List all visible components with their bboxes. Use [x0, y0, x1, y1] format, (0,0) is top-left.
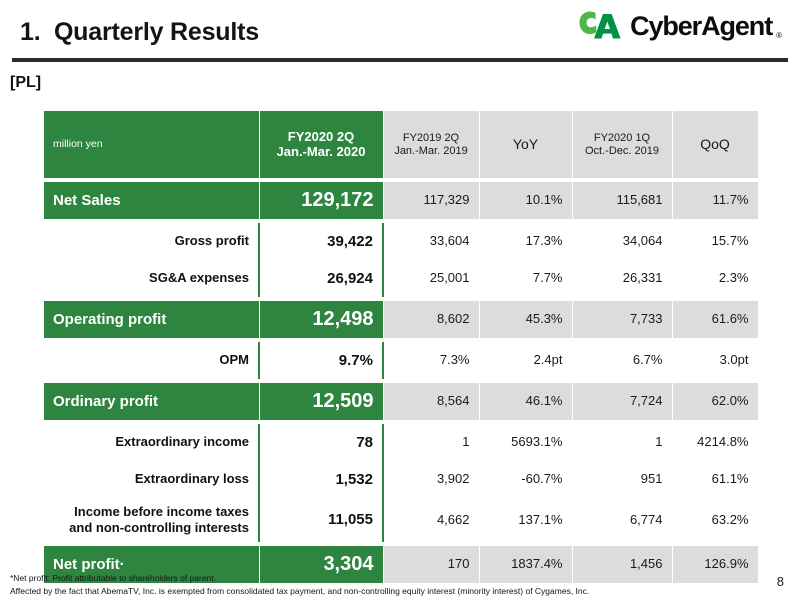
row-label-line2: and non-controlling interests [53, 520, 249, 536]
table-row: Extraordinary loss1,5323,902-60.7%95161.… [44, 461, 758, 498]
row-value-yoy: 137.1% [479, 498, 572, 542]
row-value-main: 12,498 [259, 301, 383, 338]
row-value-yoy: 46.1% [479, 383, 572, 420]
row-value-prev: 8,602 [383, 301, 479, 338]
row-value-main: 78 [259, 424, 383, 461]
row-value-yoy: 7.7% [479, 260, 572, 297]
table-header-row: million yenFY2020 2QJan.-Mar. 2020FY2019… [44, 111, 758, 178]
row-value-prev: 1 [383, 424, 479, 461]
row-value-q1: 7,733 [572, 301, 672, 338]
ca-logo-mark-icon [578, 10, 624, 42]
page-number: 8 [777, 574, 784, 589]
row-value-prev: 117,329 [383, 182, 479, 219]
table-row: Gross profit39,42233,60417.3%34,06415.7% [44, 223, 758, 260]
row-label: Operating profit [44, 301, 259, 338]
column-header-line1: QoQ [682, 136, 749, 152]
title-divider [12, 58, 788, 62]
table-row: SG&A expenses26,92425,0017.7%26,3312.3% [44, 260, 758, 297]
row-label: Extraordinary income [44, 424, 259, 461]
row-value-prev: 8,564 [383, 383, 479, 420]
row-label: Net Sales [44, 182, 259, 219]
row-value-qoq: 3.0pt [672, 342, 758, 379]
row-value-main: 9.7% [259, 342, 383, 379]
page-title: 1. Quarterly Results [20, 18, 259, 47]
column-header-4: FY2020 1QOct.-Dec. 2019 [572, 111, 672, 178]
row-label-line1: Income before income taxes [53, 504, 249, 520]
column-header-line1: YoY [489, 136, 563, 152]
table-row: Operating profit12,4988,60245.3%7,73361.… [44, 301, 758, 338]
row-value-q1: 7,724 [572, 383, 672, 420]
row-value-prev: 33,604 [383, 223, 479, 260]
column-header-5: QoQ [672, 111, 758, 178]
row-value-yoy: 2.4pt [479, 342, 572, 379]
row-value-q1: 34,064 [572, 223, 672, 260]
row-value-qoq: 15.7% [672, 223, 758, 260]
row-value-q1: 26,331 [572, 260, 672, 297]
column-header-line1: FY2020 1Q [582, 132, 663, 145]
row-label: Extraordinary loss [44, 461, 259, 498]
footnote-line: Affected by the fact that AbemaTV, Inc. … [10, 585, 589, 598]
registered-trademark-icon: ® [776, 31, 782, 44]
column-header-unit: million yen [44, 111, 259, 178]
row-value-main: 1,532 [259, 461, 383, 498]
column-header-line2: Oct.-Dec. 2019 [582, 145, 663, 158]
cyberagent-logo: CyberAgent ® [578, 8, 782, 44]
row-value-prev: 7.3% [383, 342, 479, 379]
logo-wordmark: CyberAgent [630, 13, 772, 40]
row-value-qoq: 4214.8% [672, 424, 758, 461]
row-value-main: 39,422 [259, 223, 383, 260]
row-value-main: 12,509 [259, 383, 383, 420]
row-label: Gross profit [44, 223, 259, 260]
row-value-main: 11,055 [259, 498, 383, 542]
row-value-prev: 4,662 [383, 498, 479, 542]
slide-header: 1. Quarterly Results CyberAgent ® [0, 0, 800, 62]
row-value-q1: 951 [572, 461, 672, 498]
row-value-qoq: 61.6% [672, 301, 758, 338]
table-row: Ordinary profit12,5098,56446.1%7,72462.0… [44, 383, 758, 420]
row-value-qoq: 63.2% [672, 498, 758, 542]
row-value-yoy: 10.1% [479, 182, 572, 219]
row-label: OPM [44, 342, 259, 379]
column-header-2: FY2019 2QJan.-Mar. 2019 [383, 111, 479, 178]
footnotes: *Net profit: Profit attributable to shar… [10, 572, 589, 598]
row-value-q1: 1 [572, 424, 672, 461]
table-row: Net Sales129,172117,32910.1%115,68111.7% [44, 182, 758, 219]
row-value-yoy: 45.3% [479, 301, 572, 338]
column-header-3: YoY [479, 111, 572, 178]
column-header-line1: FY2019 2Q [393, 132, 470, 145]
row-value-q1: 6.7% [572, 342, 672, 379]
column-header-1: FY2020 2QJan.-Mar. 2020 [259, 111, 383, 178]
row-value-qoq: 11.7% [672, 182, 758, 219]
column-header-line1: FY2020 2Q [269, 130, 374, 145]
column-header-line2: Jan.-Mar. 2020 [269, 145, 374, 160]
row-value-q1: 6,774 [572, 498, 672, 542]
column-header-line2: Jan.-Mar. 2019 [393, 145, 470, 158]
table-row: Extraordinary income7815693.1%14214.8% [44, 424, 758, 461]
row-value-yoy: 5693.1% [479, 424, 572, 461]
table-row: OPM9.7%7.3%2.4pt6.7%3.0pt [44, 342, 758, 379]
section-label: [PL] [10, 74, 41, 92]
row-label: Income before income taxesand non-contro… [44, 498, 259, 542]
row-value-qoq: 2.3% [672, 260, 758, 297]
table-row: Income before income taxesand non-contro… [44, 498, 758, 542]
quarterly-results-table: million yenFY2020 2QJan.-Mar. 2020FY2019… [44, 111, 759, 583]
row-value-qoq: 62.0% [672, 383, 758, 420]
row-value-yoy: -60.7% [479, 461, 572, 498]
footnote-line: *Net profit: Profit attributable to shar… [10, 572, 589, 585]
row-value-yoy: 17.3% [479, 223, 572, 260]
row-value-prev: 25,001 [383, 260, 479, 297]
row-value-main: 129,172 [259, 182, 383, 219]
row-value-main: 26,924 [259, 260, 383, 297]
row-value-q1: 115,681 [572, 182, 672, 219]
row-label: Ordinary profit [44, 383, 259, 420]
row-label: SG&A expenses [44, 260, 259, 297]
row-value-qoq: 126.9% [672, 546, 758, 583]
row-value-qoq: 61.1% [672, 461, 758, 498]
row-value-prev: 3,902 [383, 461, 479, 498]
